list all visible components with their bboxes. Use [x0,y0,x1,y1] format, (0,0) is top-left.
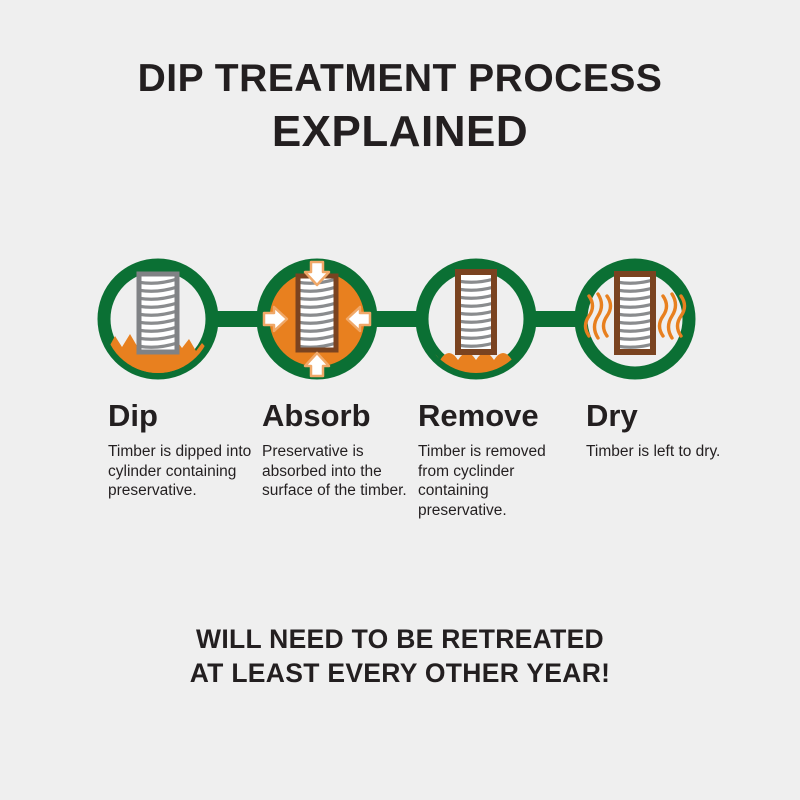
timber-post-icon [133,274,183,355]
step-title: Remove [418,398,568,434]
step-dip: Dip Timber is dipped into cylinder conta… [108,398,258,501]
step-remove: Remove Timber is removed from cyclinder … [418,398,568,520]
step-description: Preservative is absorbed into the surfac… [262,442,412,501]
footer-note: WILL NEED TO BE RETREATED AT LEAST EVERY… [0,622,800,690]
step-description: Timber is left to dry. [586,442,736,462]
step-description: Timber is removed from cyclinder contain… [418,442,568,520]
process-chain-diagram [92,248,714,390]
footer-line-2: AT LEAST EVERY OTHER YEAR! [0,656,800,690]
footer-line-1: WILL NEED TO BE RETREATED [0,622,800,656]
infographic-page: DIP TREATMENT PROCESS EXPLAINED [0,0,800,800]
step-description: Timber is dipped into cylinder containin… [108,442,258,501]
process-circle-dip [96,265,220,384]
step-title: Absorb [262,398,412,434]
process-step-captions: Dip Timber is dipped into cylinder conta… [0,398,800,568]
title-line-1: DIP TREATMENT PROCESS [0,56,800,102]
timber-post-icon [612,274,662,355]
step-title: Dry [586,398,736,434]
step-absorb: Absorb Preservative is absorbed into the… [262,398,412,501]
timber-post-icon [292,276,342,355]
step-dry: Dry Timber is left to dry. [586,398,736,462]
process-circle-absorb [263,262,371,376]
page-title: DIP TREATMENT PROCESS EXPLAINED [0,56,800,158]
step-title: Dip [108,398,258,434]
timber-post-icon [453,272,503,354]
process-circle-dry [581,265,689,373]
title-line-2: EXPLAINED [0,106,800,158]
process-circle-remove [422,265,530,380]
